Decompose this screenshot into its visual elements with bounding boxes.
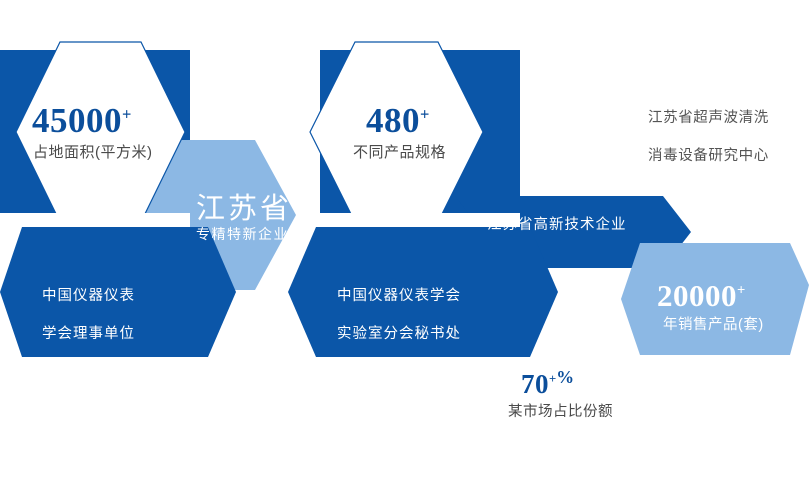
stat-specs-suffix: +: [420, 104, 429, 123]
honor-council-line2: 学会理事单位: [42, 324, 135, 345]
stat-specs-value: 480+: [366, 96, 429, 147]
honor-lab: 中国仪器仪表学会 实验室分会秘书处: [337, 286, 461, 362]
shape-divider-left: [0, 213, 190, 227]
stat-area-value: 45000+: [32, 96, 131, 147]
research-center-line2: 消毒设备研究中心: [648, 146, 769, 167]
research-center-line1: 江苏省超声波清洗: [648, 108, 769, 129]
stat-market-share-label: 某市场占比份额: [508, 402, 613, 423]
stat-area-label: 占地面积(平方米): [33, 142, 153, 164]
stat-specs-number: 480: [366, 101, 420, 140]
stat-annual-sales-number: 20000: [657, 278, 737, 313]
honor-lab-line2: 实验室分会秘书处: [337, 324, 461, 345]
center-badge-title: 江苏省: [196, 188, 292, 230]
honor-high-tech-label: 江苏省高新技术企业: [487, 215, 627, 236]
honor-council: 中国仪器仪表 学会理事单位: [42, 286, 135, 362]
stat-annual-sales-suffix: +: [737, 283, 745, 299]
stat-annual-sales-value: 20000+: [657, 274, 745, 319]
infographic-shapes: [0, 0, 809, 487]
stat-annual-sales-label: 年销售产品(套): [663, 315, 764, 336]
stat-area-suffix: +: [122, 104, 131, 123]
infographic-canvas: 45000+ 占地面积(平方米) 480+ 不同产品规格 江苏省 专精特新企业 …: [0, 0, 809, 487]
honor-high-tech: 江苏省高新技术企业: [487, 215, 627, 253]
stat-specs-label: 不同产品规格: [353, 142, 446, 164]
stat-area-number: 45000: [32, 101, 122, 140]
stat-market-share-unit: %: [556, 367, 574, 387]
honor-lab-line1: 中国仪器仪表学会: [337, 286, 461, 307]
stat-market-share-value: 70+%: [521, 365, 575, 404]
research-center-note: 江苏省超声波清洗 消毒设备研究中心: [648, 108, 769, 184]
stat-market-share-number: 70: [521, 369, 549, 399]
honor-council-line1: 中国仪器仪表: [42, 286, 135, 307]
center-badge-subtitle: 专精特新企业: [196, 226, 289, 246]
